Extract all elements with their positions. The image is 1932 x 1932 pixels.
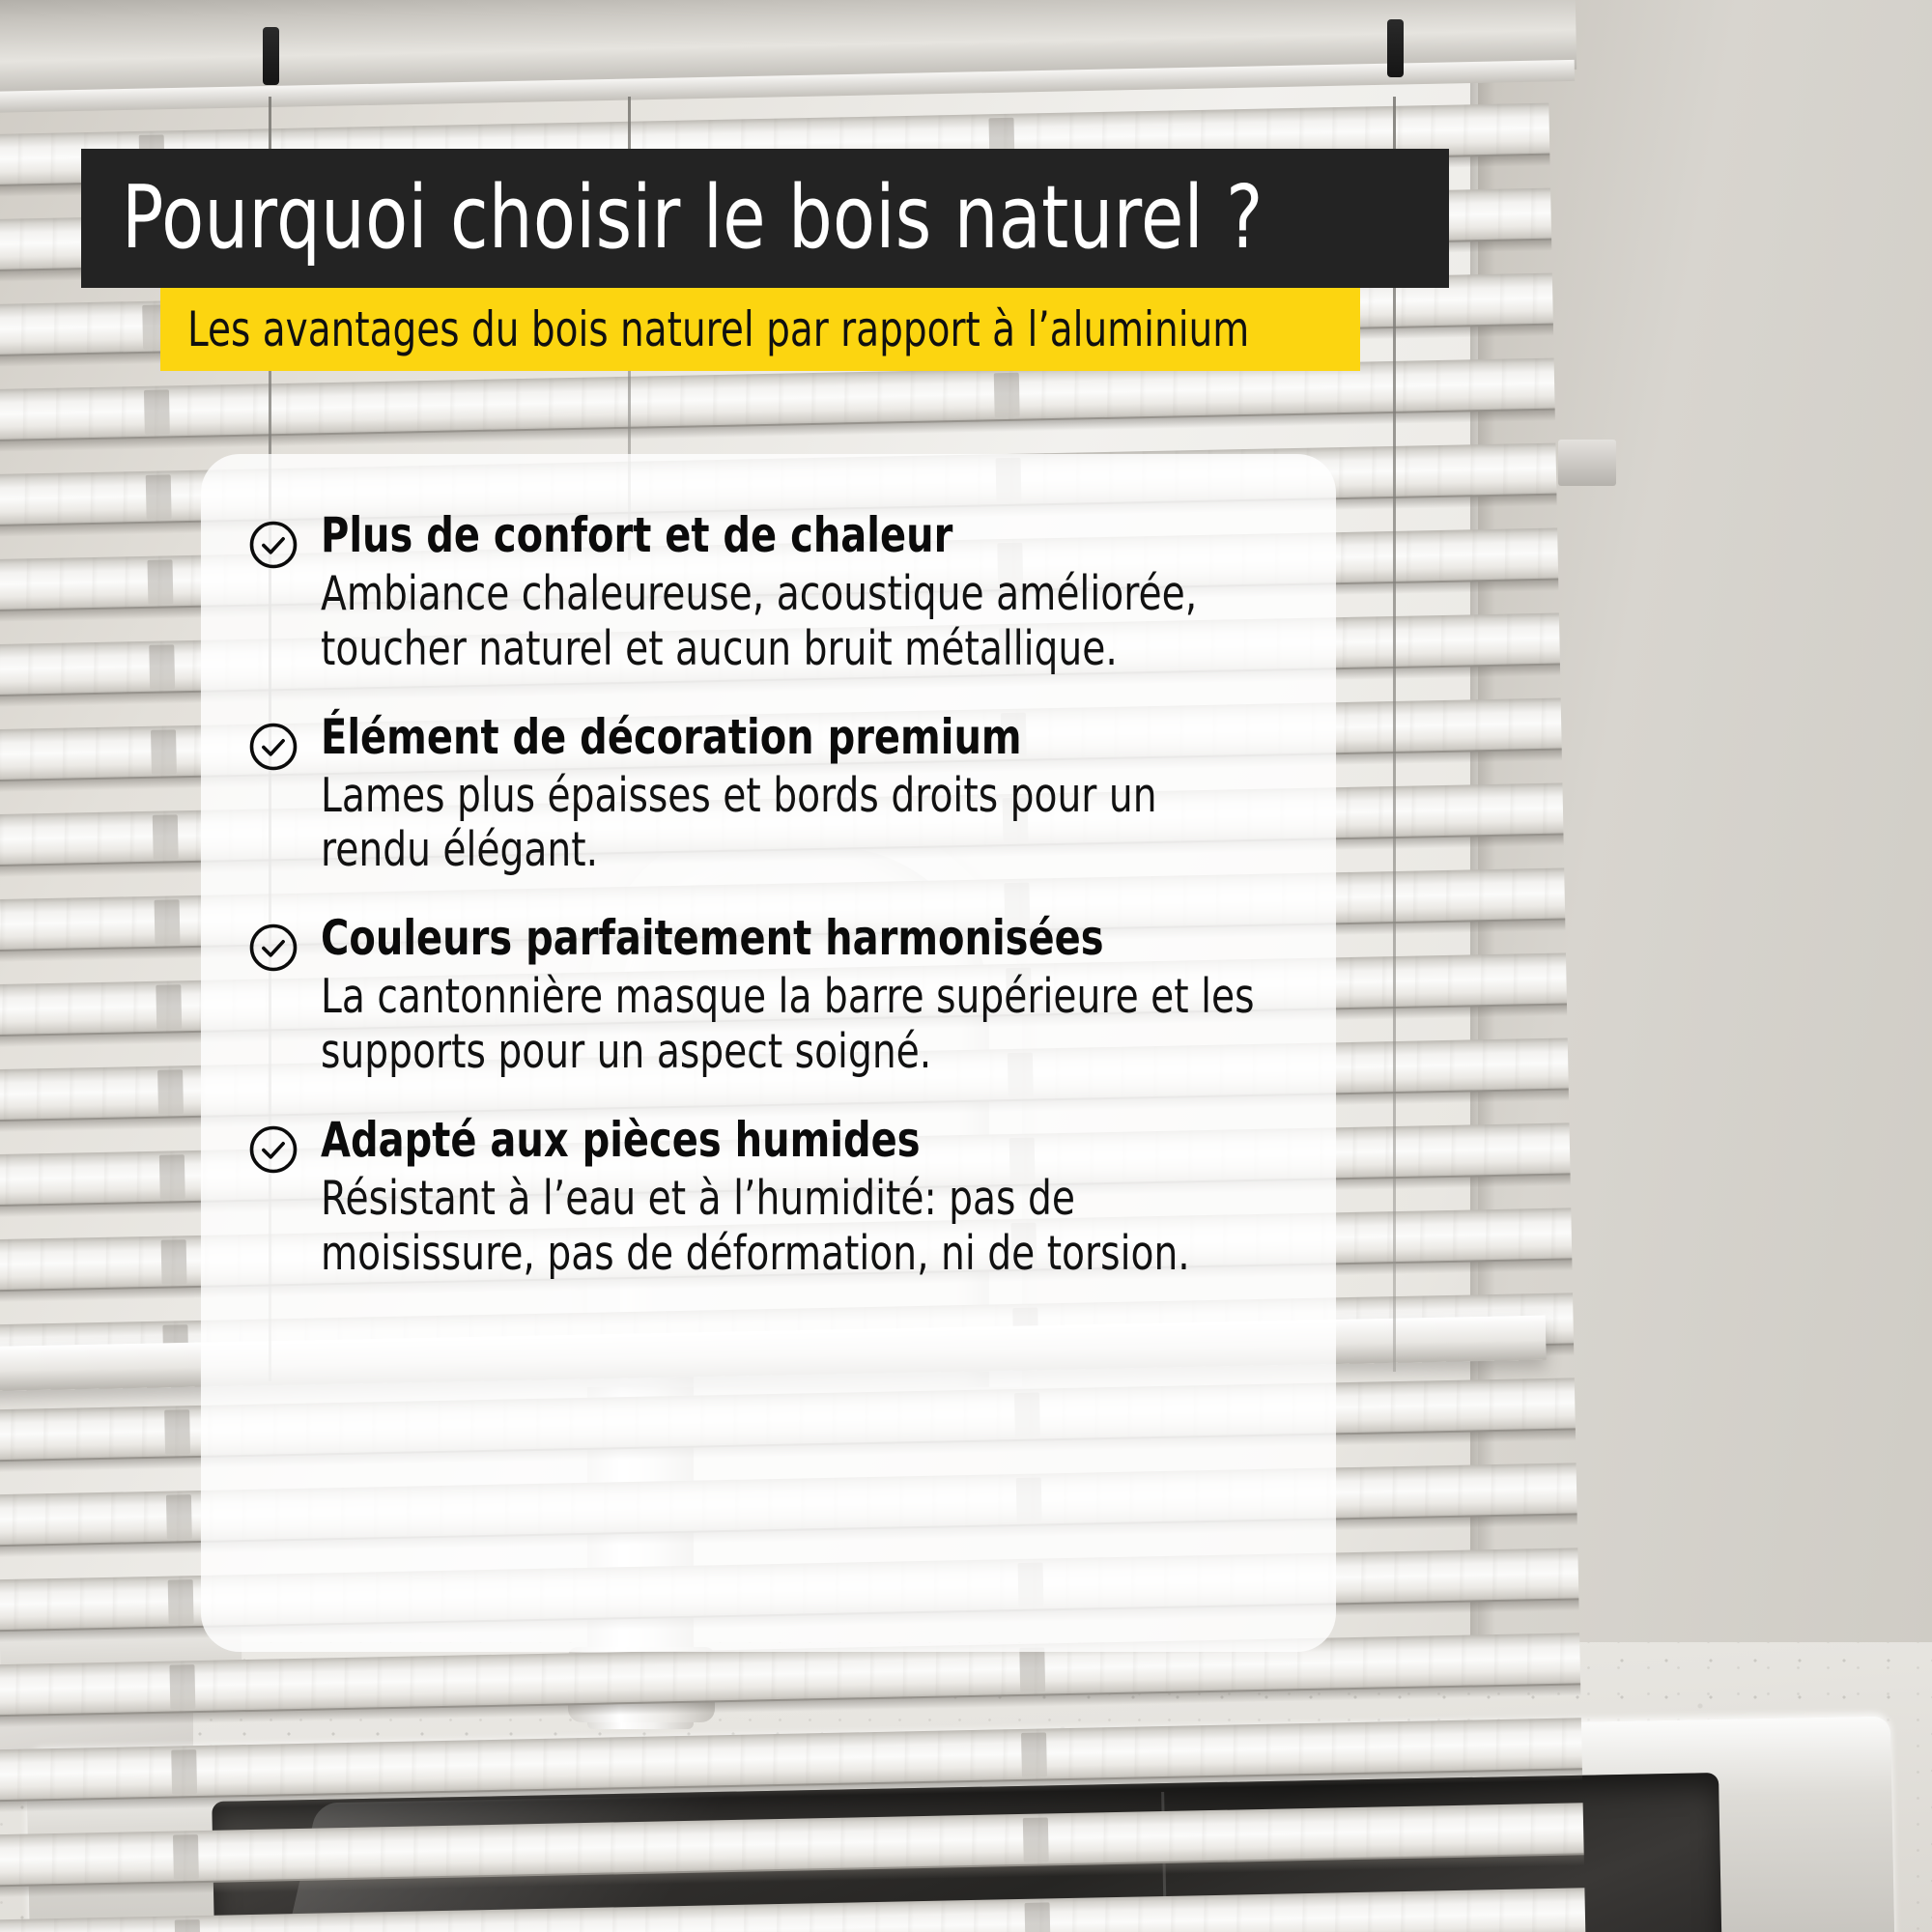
benefit-description: Lames plus épaisses et bords droits pour…	[321, 769, 1274, 879]
benefit-description: La cantonnière masque la barre supérieur…	[321, 970, 1274, 1080]
check-circle-icon	[247, 922, 299, 974]
blind-ladder-tape-slot	[155, 899, 181, 945]
benefit-item: Couleurs parfaitement harmonisées La can…	[247, 913, 1274, 1080]
title-bar: Pourquoi choisir le bois naturel ?	[81, 149, 1449, 288]
subtitle-bar: Les avantages du bois naturel par rappor…	[160, 288, 1360, 371]
blind-ladder-tape-slot	[1025, 1902, 1051, 1932]
benefit-description: Ambiance chaleureuse, acoustique amélior…	[321, 567, 1274, 677]
blind-ladder-tape-slot	[171, 1749, 197, 1795]
blind-wall-bracket	[1558, 440, 1616, 486]
blind-lift-cord-right	[1393, 97, 1396, 1372]
benefit-title: Adapté aux pièces humides	[321, 1115, 1084, 1166]
benefit-text-block: Plus de confort et de chaleur Ambiance c…	[321, 510, 1274, 677]
benefit-title: Couleurs parfaitement harmonisées	[321, 913, 1084, 964]
benefits-card: Plus de confort et de chaleur Ambiance c…	[201, 454, 1336, 1652]
blind-ladder-tape-slot	[156, 984, 182, 1030]
blind-ladder-tape-slot	[153, 814, 179, 860]
benefit-item: Plus de confort et de chaleur Ambiance c…	[247, 510, 1274, 677]
blind-ladder-tape-slot	[1019, 1647, 1045, 1692]
benefit-text-block: Couleurs parfaitement harmonisées La can…	[321, 913, 1274, 1080]
blind-ladder-tape-slot	[149, 644, 175, 690]
blind-ladder-tape-slot	[147, 559, 173, 605]
blind-ladder-tape-slot	[161, 1239, 187, 1285]
blind-ladder-tape-slot	[175, 1919, 201, 1932]
benefit-title: Plus de confort et de chaleur	[321, 510, 1084, 561]
blind-cord-lock-right	[1387, 19, 1404, 77]
blind-ladder-tape-slot	[1021, 1732, 1047, 1777]
benefit-title: Élément de décoration premium	[321, 712, 1084, 763]
blind-ladder-tape-slot	[164, 1409, 190, 1455]
page-subtitle: Les avantages du bois naturel par rappor…	[187, 305, 1249, 354]
blind-ladder-tape-slot	[166, 1494, 192, 1540]
blind-ladder-tape-slot	[1023, 1817, 1049, 1862]
benefit-item: Adapté aux pièces humides Résistant à l’…	[247, 1115, 1274, 1282]
blind-ladder-tape-slot	[173, 1834, 199, 1880]
blind-ladder-tape-slot	[144, 389, 170, 435]
benefits-list: Plus de confort et de chaleur Ambiance c…	[247, 510, 1274, 1282]
blind-ladder-tape-slot	[168, 1579, 194, 1625]
blind-ladder-tape-slot	[169, 1664, 195, 1710]
benefit-text-block: Adapté aux pièces humides Résistant à l’…	[321, 1115, 1274, 1282]
blind-ladder-tape-slot	[157, 1069, 184, 1115]
blind-ladder-tape-slot	[994, 373, 1020, 418]
blind-cord-lock-left	[263, 27, 279, 85]
check-circle-icon	[247, 519, 299, 571]
poster-root: Pourquoi choisir le bois naturel ? Les a…	[0, 0, 1932, 1932]
blind-ladder-tape-slot	[159, 1154, 185, 1200]
check-circle-icon	[247, 1123, 299, 1176]
benefit-item: Élément de décoration premium Lames plus…	[247, 712, 1274, 879]
check-circle-icon	[247, 721, 299, 773]
benefit-text-block: Élément de décoration premium Lames plus…	[321, 712, 1274, 879]
page-title: Pourquoi choisir le bois naturel ?	[122, 175, 1264, 262]
blind-ladder-tape-slot	[151, 729, 177, 775]
benefit-description: Résistant à l’eau et à l’humidité: pas d…	[321, 1172, 1274, 1282]
blind-ladder-tape-slot	[146, 474, 172, 520]
